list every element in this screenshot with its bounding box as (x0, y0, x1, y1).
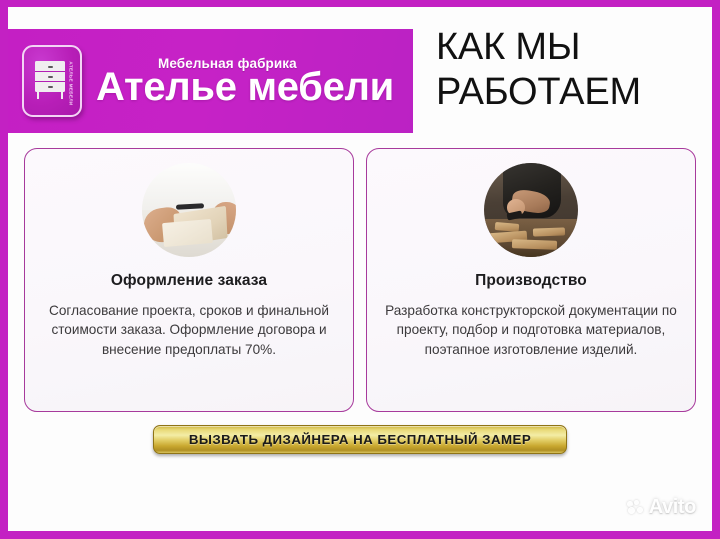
page-title: КАК МЫ РАБОТАЕМ (436, 25, 712, 115)
dresser-icon: АТЕЛЬЕ МЕБЕЛИ (22, 45, 82, 117)
step-card-body: Согласование проекта, сроков и финальной… (25, 301, 353, 359)
dresser-knob (48, 66, 53, 69)
dresser-divider (35, 71, 65, 73)
frame-border-bottom (0, 531, 720, 539)
photo-wood-plank (533, 227, 565, 237)
step-card-title: Оформление заказа (111, 272, 267, 290)
step-card-production: Производство Разработка конструкторской … (366, 148, 696, 412)
photo-document-sheet (162, 219, 213, 248)
photo-docs-scene (142, 163, 236, 257)
dresser-divider (35, 81, 65, 83)
poster: АТЕЛЬЕ МЕБЕЛИ Мебельная фабрика Ателье м… (0, 0, 720, 539)
dresser-leg (37, 92, 39, 99)
header-row: АТЕЛЬЕ МЕБЕЛИ Мебельная фабрика Ателье м… (8, 29, 712, 133)
photo-workshop-scene (484, 163, 578, 257)
avito-watermark: Avito (627, 496, 696, 519)
frame-border-right (712, 0, 720, 539)
step-card-title: Производство (475, 272, 587, 290)
step-card-body: Разработка конструкторской документации … (367, 301, 695, 359)
documents-signing-photo (142, 163, 236, 257)
dresser-leg (61, 92, 63, 99)
brand-name: Ателье мебели (96, 66, 394, 108)
frame-border-top (0, 0, 720, 7)
steps-card-list: Оформление заказа Согласование проекта, … (8, 148, 712, 412)
dresser-glyph (35, 61, 65, 99)
poster-canvas: АТЕЛЬЕ МЕБЕЛИ Мебельная фабрика Ателье м… (8, 7, 712, 531)
page-title-line-1: КАК МЫ (436, 25, 712, 70)
brand-banner: АТЕЛЬЕ МЕБЕЛИ Мебельная фабрика Ателье м… (8, 29, 413, 133)
avito-dots-icon (627, 500, 645, 515)
step-card-order: Оформление заказа Согласование проекта, … (24, 148, 354, 412)
logo-microtext-label: АТЕЛЬЕ МЕБЕЛИ (69, 61, 74, 105)
page-title-line-2: РАБОТАЕМ (436, 70, 712, 115)
call-designer-button-label: ВЫЗВАТЬ ДИЗАЙНЕРА НА БЕСПЛАТНЫЙ ЗАМЕР (189, 432, 531, 447)
avito-watermark-label: Avito (649, 496, 696, 519)
carpenter-workbench-photo (484, 163, 578, 257)
dresser-knob (48, 76, 53, 79)
logo-microtext: АТЕЛЬЕ МЕБЕЛИ (67, 51, 76, 115)
dresser-knob (48, 86, 53, 89)
brand-text-block: Мебельная фабрика Ателье мебели (96, 54, 394, 108)
frame-border-left (0, 0, 8, 539)
cta-row: ВЫЗВАТЬ ДИЗАЙНЕРА НА БЕСПЛАТНЫЙ ЗАМЕР (8, 425, 712, 454)
call-designer-button[interactable]: ВЫЗВАТЬ ДИЗАЙНЕРА НА БЕСПЛАТНЫЙ ЗАМЕР (153, 425, 567, 454)
